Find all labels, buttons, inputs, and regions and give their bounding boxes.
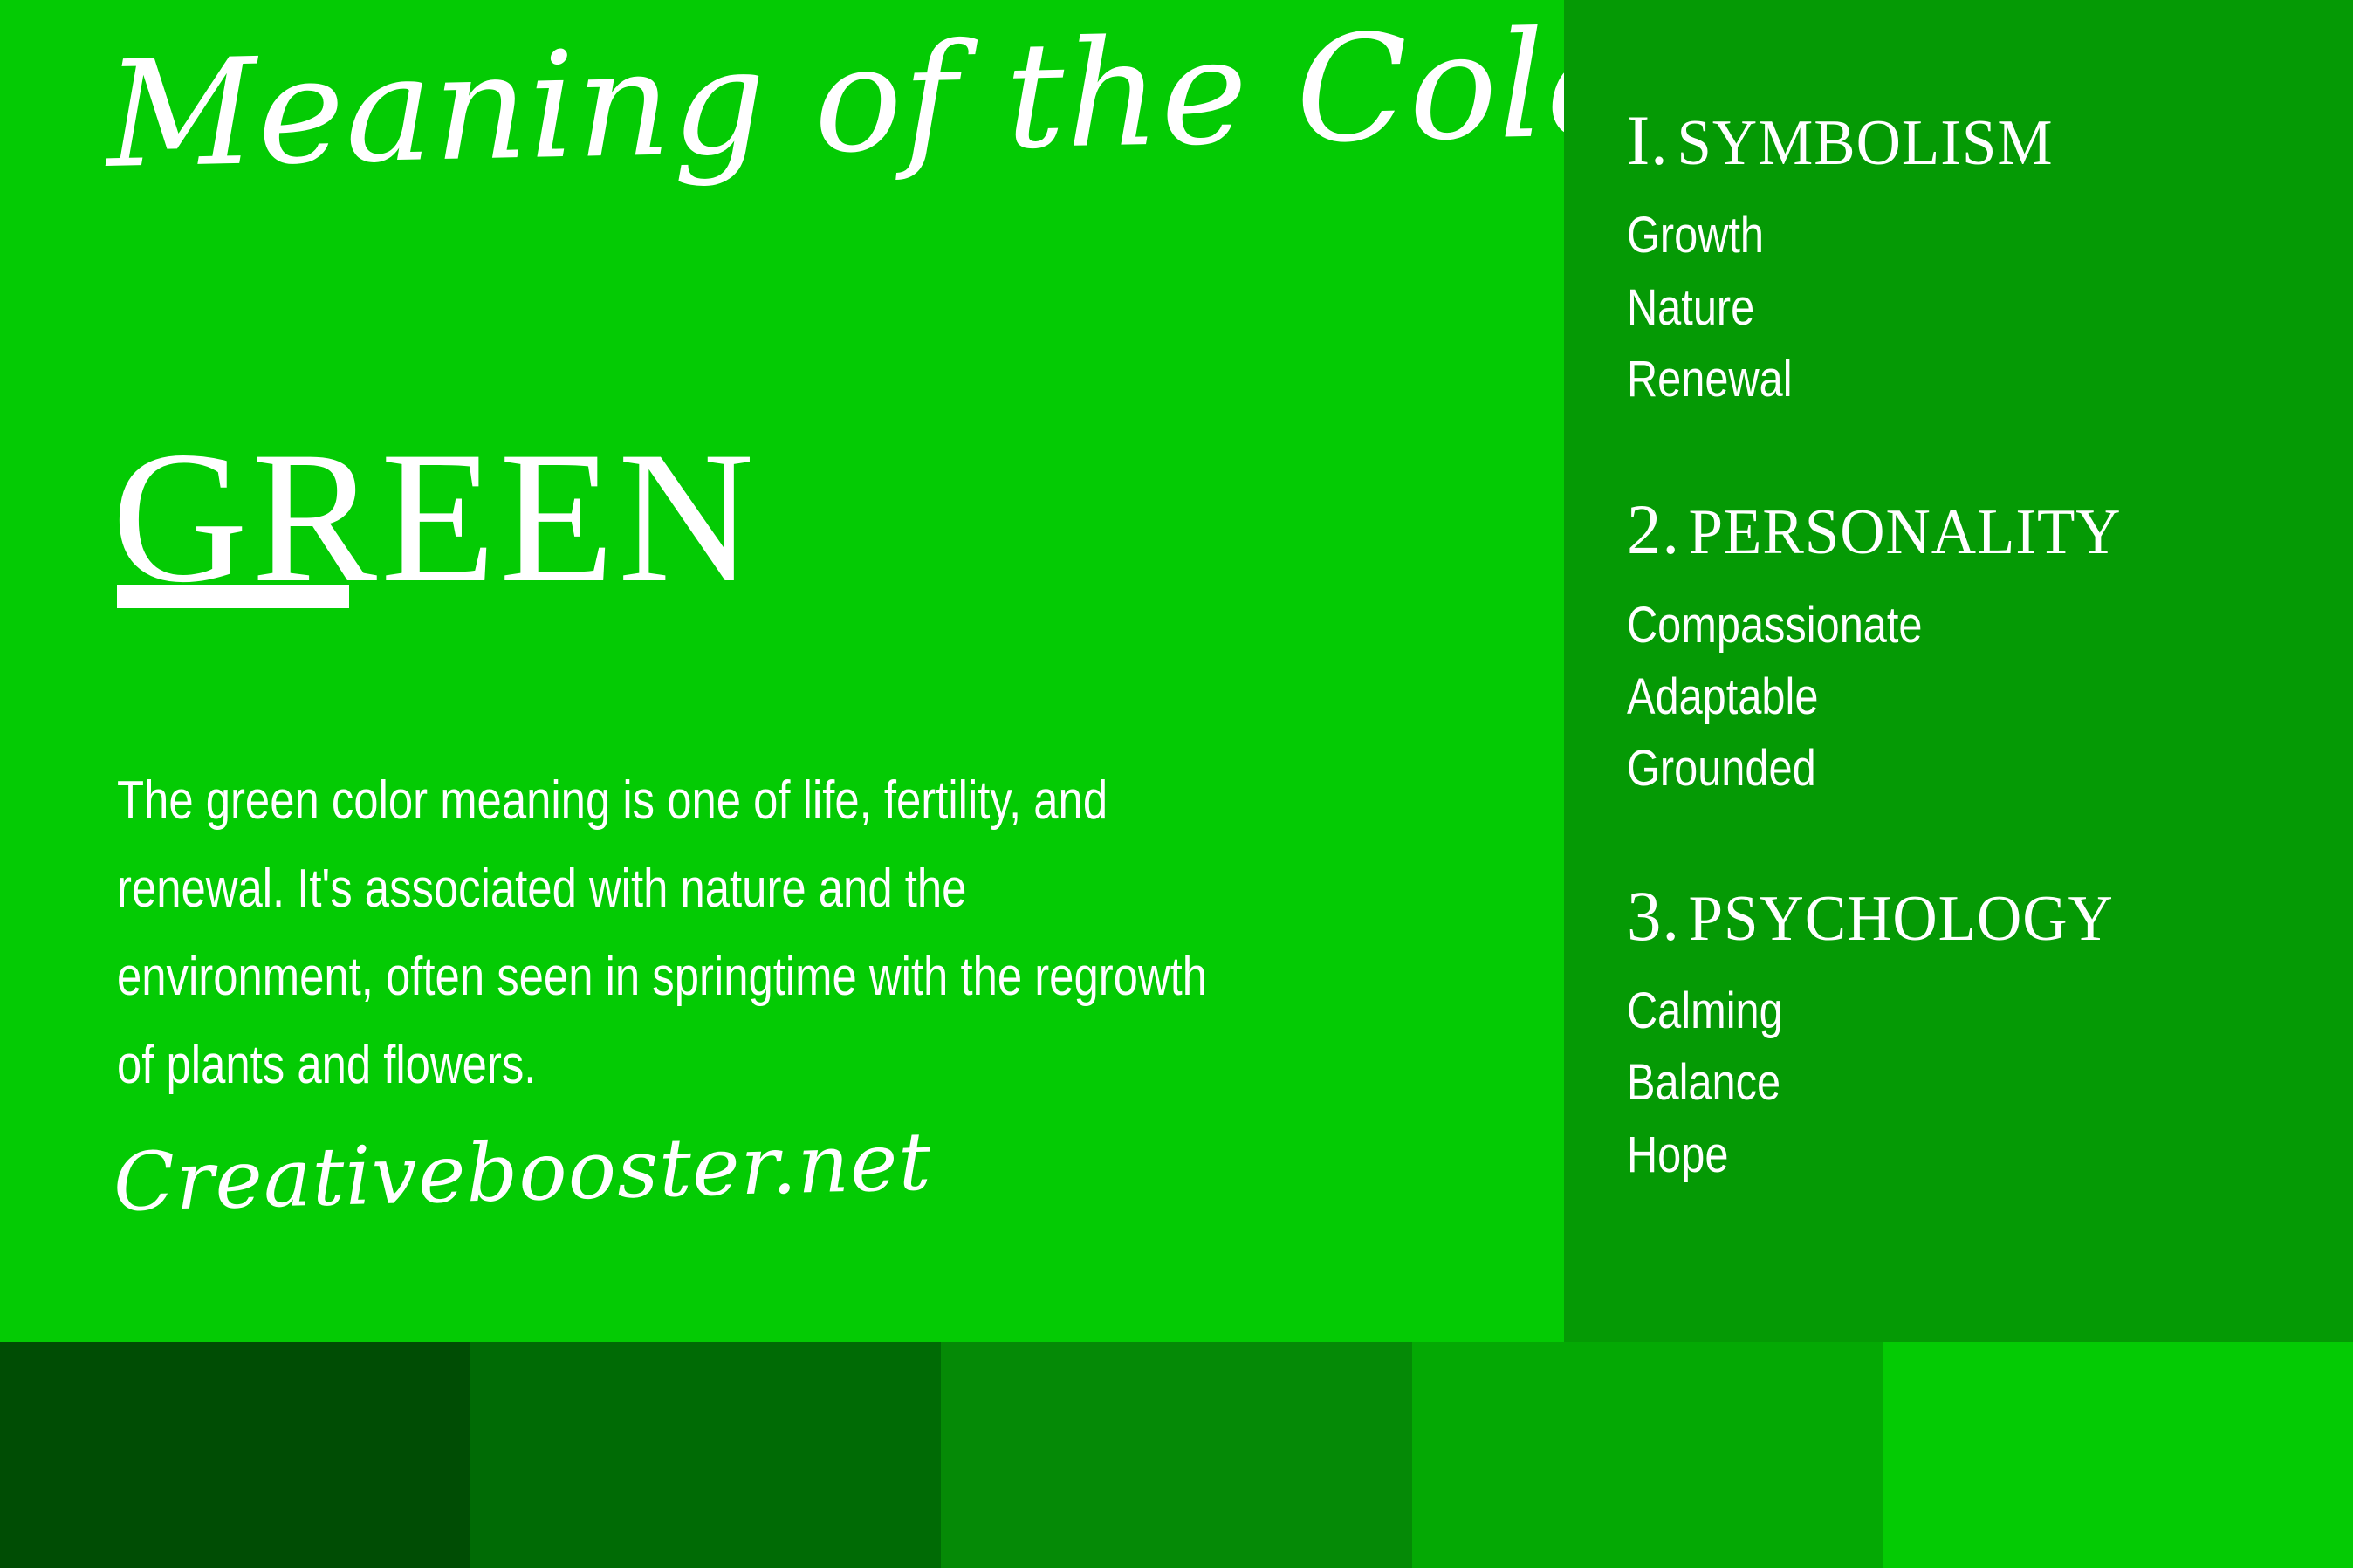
list-item: Compassionate xyxy=(1627,590,2222,661)
color-swatch xyxy=(1412,1342,1883,1568)
section-personality-number: 2. xyxy=(1627,490,1689,569)
section-symbolism-heading: I.SYMBOLISM xyxy=(1627,103,2308,177)
list-item: Balance xyxy=(1627,1047,2222,1119)
section-symbolism-number: I. xyxy=(1627,100,1677,180)
sections-list: I.SYMBOLISM Growth Nature Renewal 2.PERS… xyxy=(1627,103,2336,1191)
section-psychology-heading: 3.PSYCHOLOGY xyxy=(1627,879,2308,953)
section-psychology-number: 3. xyxy=(1627,876,1689,955)
section-psychology-items: Calming Balance Hope xyxy=(1627,976,2336,1191)
list-item: Calming xyxy=(1627,976,2222,1047)
list-item: Renewal xyxy=(1627,344,2222,415)
color-swatch xyxy=(941,1342,1411,1568)
section-psychology-title: PSYCHOLOGY xyxy=(1689,883,2114,955)
color-meaning-poster: Meaning of the Color GREEN The green col… xyxy=(0,0,2353,1568)
section-personality-title: PERSONALITY xyxy=(1689,496,2122,568)
section-personality-items: Compassionate Adaptable Grounded xyxy=(1627,590,2336,805)
section-symbolism: I.SYMBOLISM Growth Nature Renewal xyxy=(1627,103,2336,415)
title-divider xyxy=(117,585,349,608)
list-item: Hope xyxy=(1627,1120,2222,1191)
section-personality: 2.PERSONALITY Compassionate Adaptable Gr… xyxy=(1627,492,2336,805)
section-symbolism-title: SYMBOLISM xyxy=(1677,107,2053,179)
section-symbolism-items: Growth Nature Renewal xyxy=(1627,200,2336,415)
section-psychology: 3.PSYCHOLOGY Calming Balance Hope xyxy=(1627,879,2336,1191)
side-panel: I.SYMBOLISM Growth Nature Renewal 2.PERS… xyxy=(1564,0,2353,1342)
list-item: Adaptable xyxy=(1627,661,2222,733)
color-swatch xyxy=(470,1342,941,1568)
color-swatch xyxy=(1883,1342,2353,1568)
script-title: Meaning of the Color xyxy=(105,12,1539,188)
list-item: Nature xyxy=(1627,272,2222,344)
list-item: Growth xyxy=(1627,200,2222,271)
brand-wordmark: Creativebooster.net xyxy=(113,1121,933,1223)
poster-top-area: Meaning of the Color GREEN The green col… xyxy=(0,0,2353,1342)
page-title: GREEN xyxy=(112,423,758,612)
body-paragraph: The green color meaning is one of life, … xyxy=(117,757,1212,1109)
main-panel: Meaning of the Color GREEN The green col… xyxy=(0,0,1564,1342)
list-item: Grounded xyxy=(1627,733,2222,805)
color-swatch xyxy=(0,1342,470,1568)
color-swatch-strip xyxy=(0,1342,2353,1568)
section-personality-heading: 2.PERSONALITY xyxy=(1627,492,2308,566)
